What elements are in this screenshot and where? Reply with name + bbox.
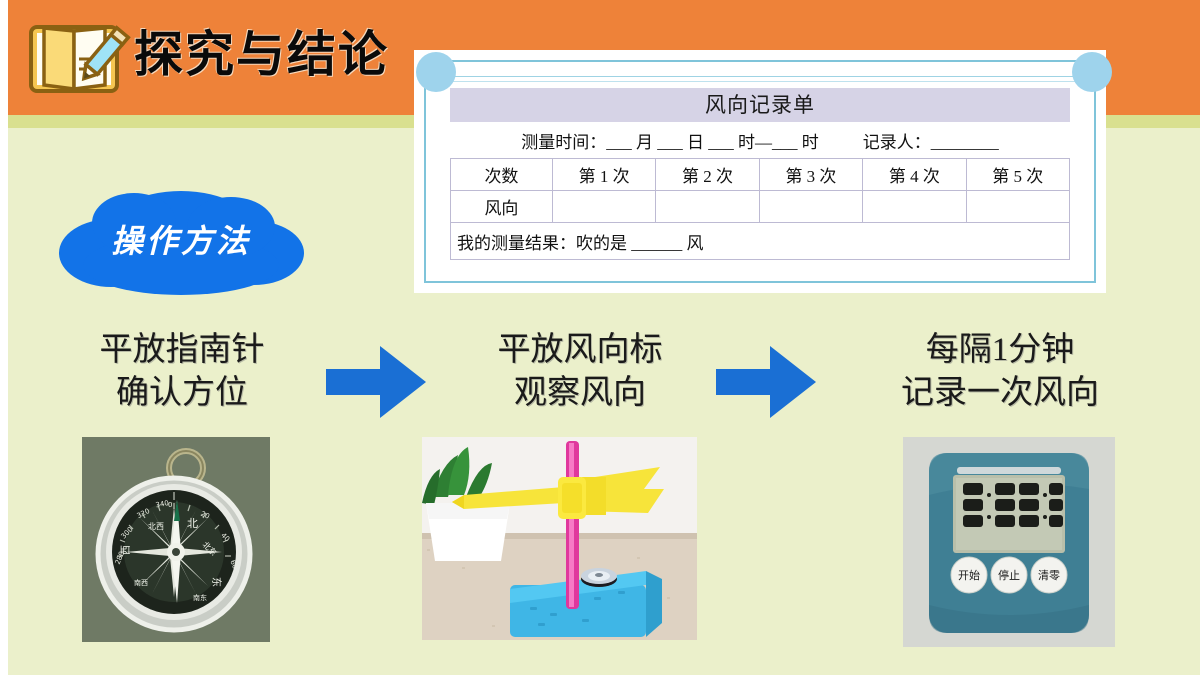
table-cell-wind-5[interactable]: [966, 191, 1069, 223]
step-3-line1: 每隔1分钟: [860, 329, 1140, 372]
svg-text:停止: 停止: [998, 568, 1020, 582]
cloud-callout-label: 操作方法: [56, 183, 306, 299]
measurement-result-text: 我的测量结果：吹的是 ______ 风: [451, 223, 1070, 260]
table-row: 风向: [451, 191, 1070, 223]
step-2-line2: 观察风向: [450, 372, 710, 415]
record-sheet-panel: 风向记录单 测量时间：___ 月 ___ 日 ___ 时—___ 时 记录人：_…: [414, 50, 1106, 293]
left-margin-strip: [0, 0, 8, 675]
panel-corner-dot-left: [416, 52, 456, 92]
step-1-line2: 确认方位: [52, 372, 312, 415]
svg-text:东: 东: [210, 577, 223, 587]
page-title: 探究与结论: [134, 22, 389, 88]
table-footer-row: 我的测量结果：吹的是 ______ 风: [451, 223, 1070, 260]
svg-text:北西: 北西: [148, 522, 164, 531]
record-sheet-body: 风向记录单 测量时间：___ 月 ___ 日 ___ 时—___ 时 记录人：_…: [450, 88, 1070, 267]
step-2-line1: 平放风向标: [450, 329, 710, 372]
arrow-right-icon-2: [716, 344, 816, 420]
record-sheet-frame: 风向记录单 测量时间：___ 月 ___ 日 ___ 时—___ 时 记录人：_…: [424, 60, 1096, 283]
panel-corner-dot-right: [1072, 52, 1112, 92]
svg-text:开始: 开始: [958, 568, 980, 582]
arrow-right-icon-1: [326, 344, 426, 420]
timer-photo: 开始 停止 清零: [903, 437, 1115, 647]
table-cell-wind-4[interactable]: [863, 191, 966, 223]
compass-photo: 0 20 40 60 280 300 320 340 北 北西 北东: [82, 437, 270, 642]
table-header-cell-5: 第 5 次: [966, 159, 1069, 191]
table-header-cell-4: 第 4 次: [863, 159, 966, 191]
slide-canvas: 探究与结论 风向记录单 测量时间：___ 月 ___ 日 ___ 时—___ 时…: [0, 0, 1200, 675]
table-row-label-wind-direction: 风向: [451, 191, 553, 223]
record-sheet-title: 风向记录单: [450, 88, 1070, 122]
svg-text:西: 西: [121, 545, 132, 555]
book-pencil-icon: [27, 19, 131, 97]
step-1-label: 平放指南针 确认方位: [52, 329, 312, 415]
wind-vane-photo: [422, 437, 697, 640]
table-header-cell-2: 第 2 次: [656, 159, 759, 191]
record-sheet-meta-line: 测量时间：___ 月 ___ 日 ___ 时—___ 时 记录人：_______…: [450, 122, 1070, 158]
svg-text:南西: 南西: [134, 578, 148, 587]
table-cell-wind-1[interactable]: [552, 191, 655, 223]
step-2-label: 平放风向标 观察风向: [450, 329, 710, 415]
svg-text:北: 北: [187, 517, 198, 530]
table-header-cell-3: 第 3 次: [759, 159, 862, 191]
table-cell-wind-3[interactable]: [759, 191, 862, 223]
table-header-cell-1: 第 1 次: [552, 159, 655, 191]
table-header-row: 次数 第 1 次 第 2 次 第 3 次 第 4 次 第 5 次: [451, 159, 1070, 191]
cloud-callout: 操作方法: [56, 183, 306, 299]
table-cell-wind-2[interactable]: [656, 191, 759, 223]
svg-text:南东: 南东: [193, 593, 207, 602]
step-1-line1: 平放指南针: [52, 329, 312, 372]
record-sheet-top-rule: [440, 76, 1080, 82]
recorder-label: 记录人：________: [863, 128, 999, 153]
step-3-label: 每隔1分钟 记录一次风向: [860, 329, 1140, 415]
measure-time-label: 测量时间：___ 月 ___ 日 ___ 时—___ 时: [521, 128, 819, 153]
svg-text:清零: 清零: [1038, 569, 1060, 582]
timer-buttons: 开始 停止 清零: [951, 557, 1067, 593]
step-3-line2: 记录一次风向: [860, 372, 1140, 415]
wind-direction-table: 次数 第 1 次 第 2 次 第 3 次 第 4 次 第 5 次 风向: [450, 158, 1070, 260]
table-header-cell-count: 次数: [451, 159, 553, 191]
